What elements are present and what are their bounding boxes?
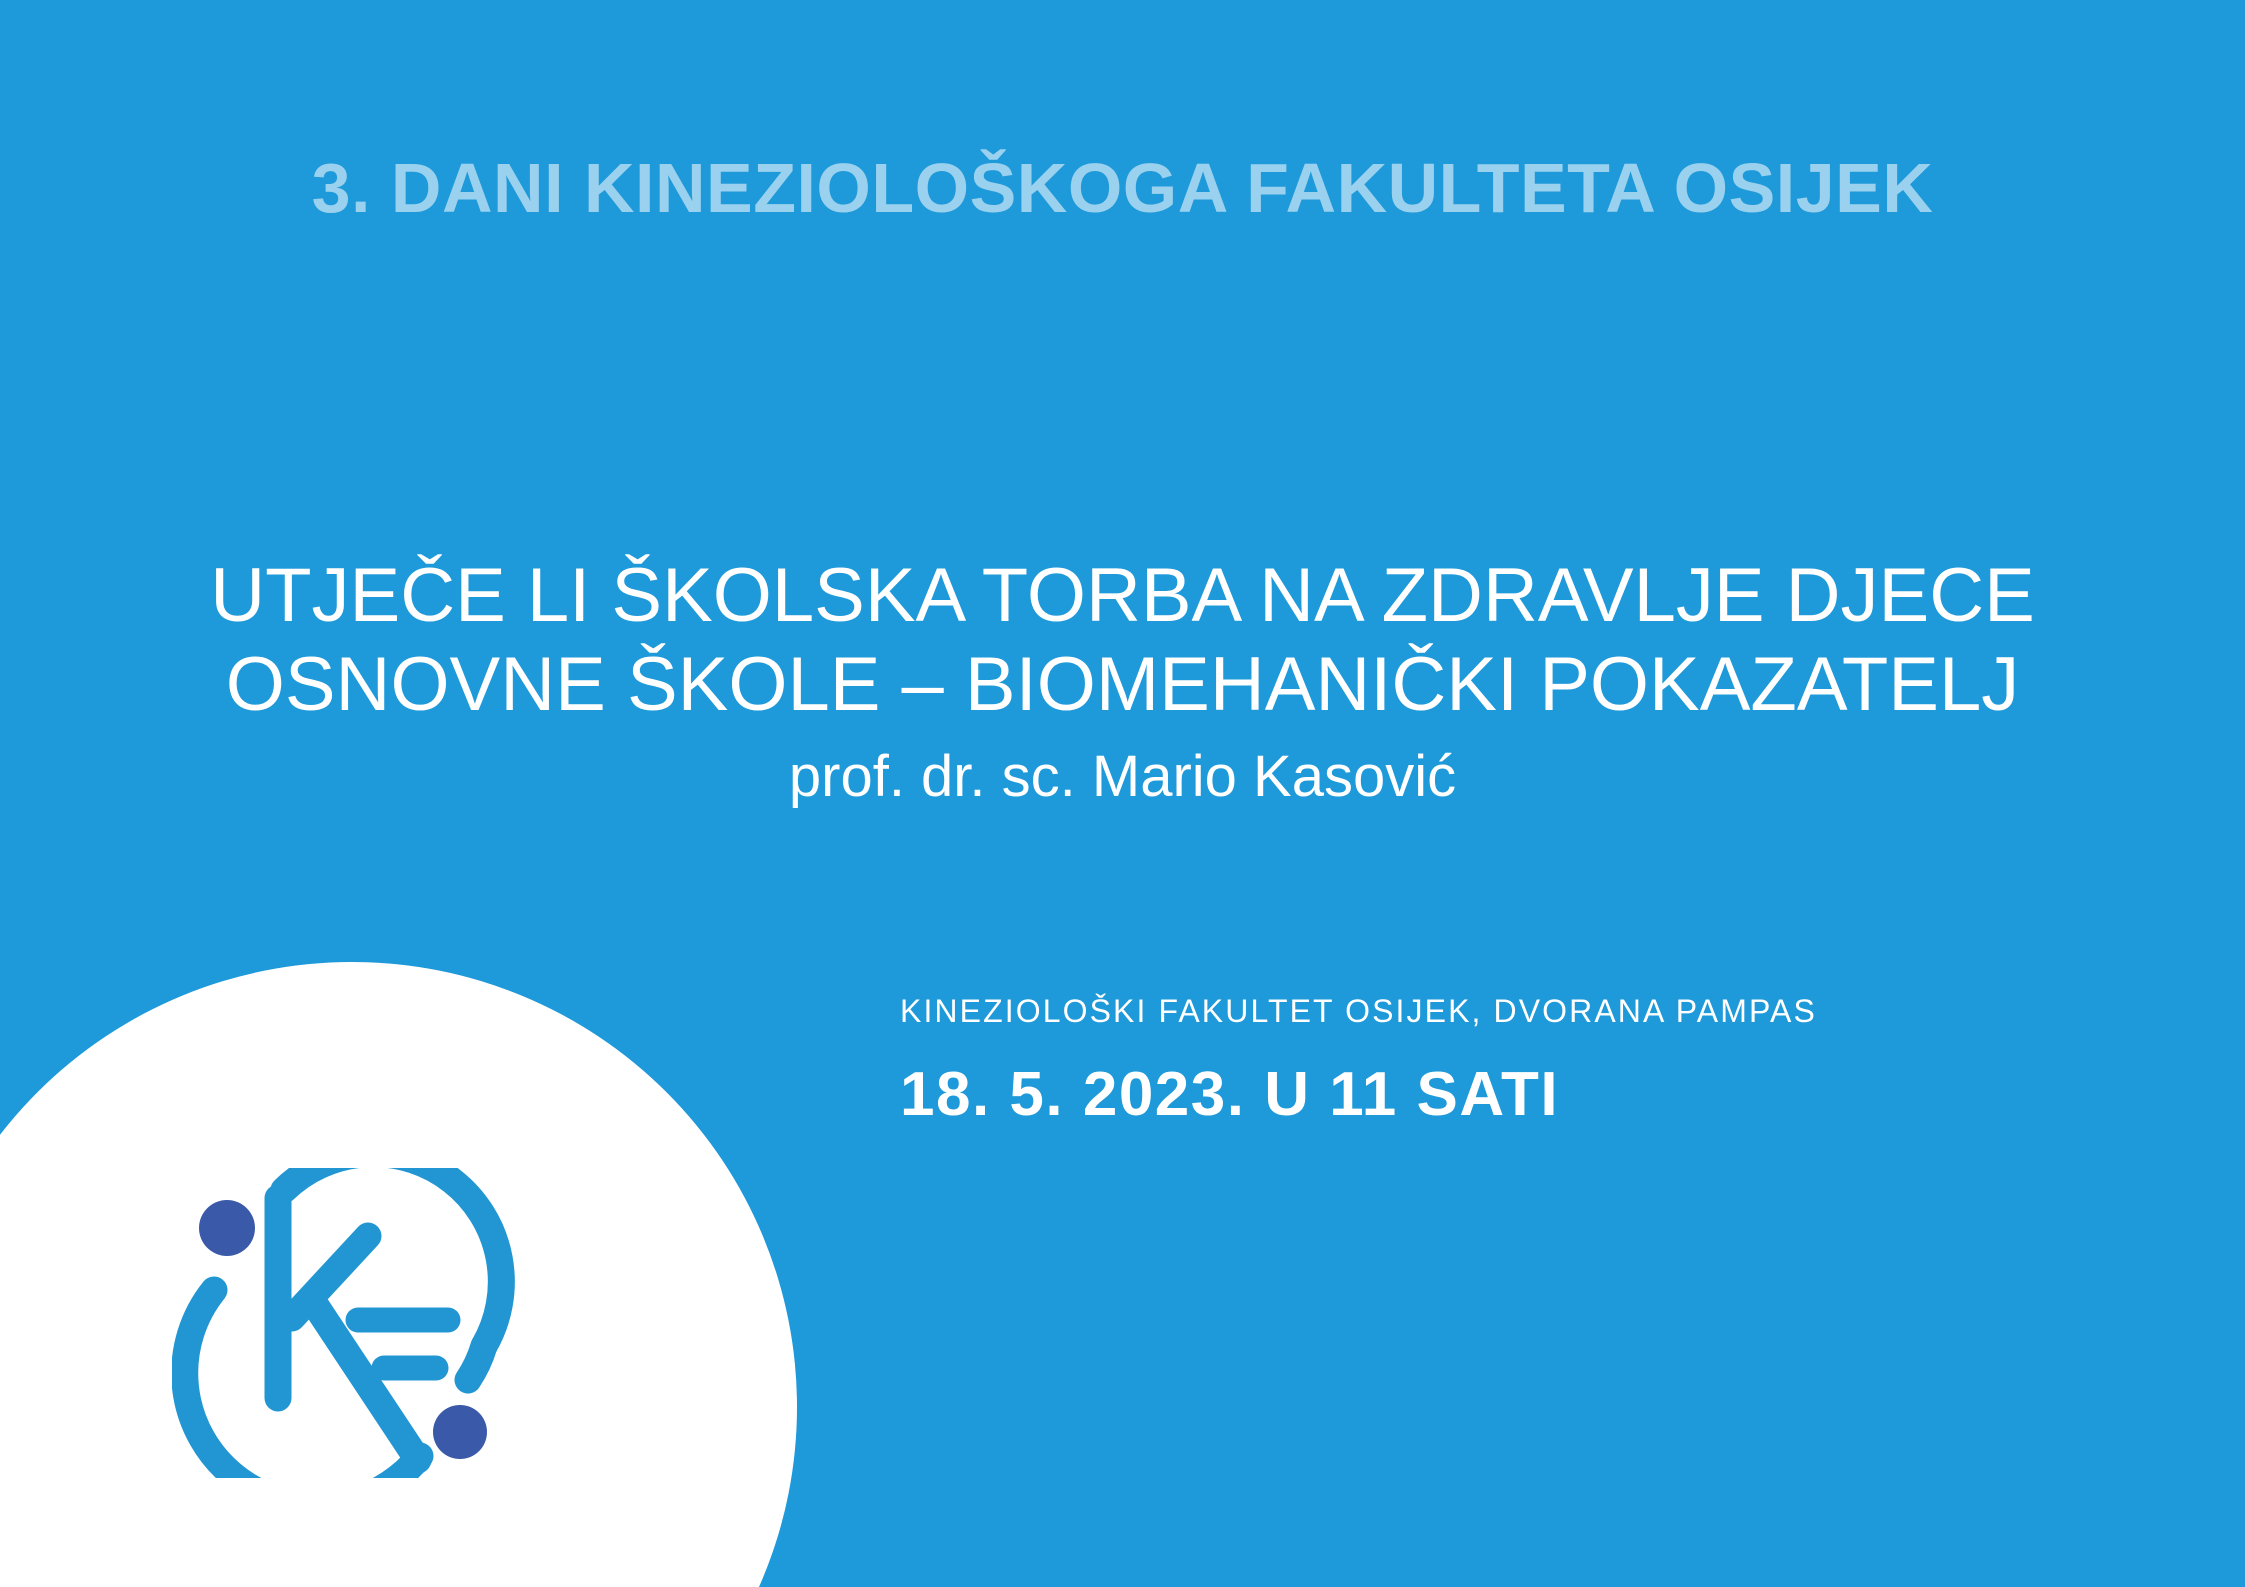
poster-canvas: 3. DANI KINEZIOLOŠKOGA FAKULTETA OSIJEK … — [0, 0, 2245, 1587]
details-block: KINEZIOLOŠKI FAKULTET OSIJEK, DVORANA PA… — [900, 992, 1817, 1133]
logo-dot-upper-left — [199, 1200, 255, 1256]
kf-logo — [172, 1168, 542, 1478]
lecture-block: UTJEČE LI ŠKOLSKA TORBA NA ZDRAVLJE DJEC… — [0, 552, 2245, 811]
kf-logo-icon — [172, 1168, 542, 1478]
datetime-text: 18. 5. 2023. U 11 SATI — [900, 1058, 1817, 1132]
lecture-title-line-1: UTJEČE LI ŠKOLSKA TORBA NA ZDRAVLJE DJEC… — [0, 552, 2245, 641]
logo-dot-lower-right — [433, 1405, 487, 1459]
logo-outer-arc-right — [468, 1346, 484, 1380]
event-title: 3. DANI KINEZIOLOŠKOGA FAKULTETA OSIJEK — [0, 150, 2245, 227]
lecture-title: UTJEČE LI ŠKOLSKA TORBA NA ZDRAVLJE DJEC… — [0, 552, 2245, 730]
venue-text: KINEZIOLOŠKI FAKULTET OSIJEK, DVORANA PA… — [900, 992, 1817, 1030]
lecture-speaker: prof. dr. sc. Mario Kasović — [0, 742, 2245, 812]
lecture-title-line-2: OSNOVNE ŠKOLE – BIOMEHANIČKI POKAZATELJ — [0, 641, 2245, 730]
